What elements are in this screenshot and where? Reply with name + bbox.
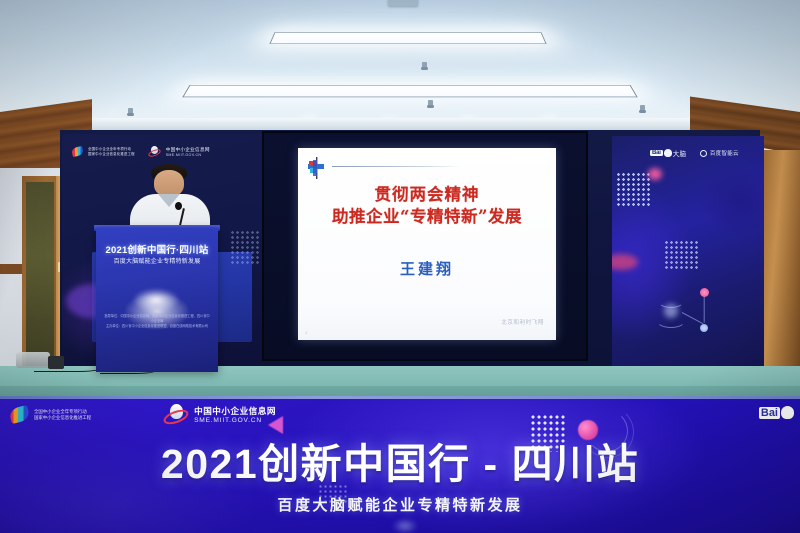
slide-title-line1: 贯彻两会精神 bbox=[298, 184, 556, 206]
podium-subtitle: 百度大脑赋能企业专精特新发展 bbox=[96, 256, 218, 265]
presentation-slide: 贯彻两会精神 助推企业“专精特新”发展 王建翔 北京和利时飞翔 1 bbox=[298, 148, 556, 340]
right-panel-arc-2 bbox=[656, 312, 686, 328]
banner-top-edge bbox=[0, 396, 800, 399]
logo-baidu-cloud: 百度智能云 bbox=[700, 149, 739, 157]
stage-podium: 2021创新中国行·四川站 百度大脑赋能企业专精特新发展 指导单位：中国中小企业… bbox=[96, 228, 218, 372]
logo-sme-miit: 中国中小企业信息网 SME.MIIT.GOV.CN bbox=[148, 146, 210, 157]
sprinkler-icon bbox=[640, 105, 645, 113]
slide-title: 贯彻两会精神 助推企业“专精特新”发展 bbox=[298, 184, 556, 228]
globe-orbit-icon bbox=[148, 146, 161, 157]
sprinkler-icon bbox=[128, 108, 133, 116]
banner-logo-sme-action-line1: 全国中小企业全年专项行动 bbox=[34, 409, 91, 415]
slide-author: 王建翔 bbox=[298, 258, 556, 279]
banner-subtitle: 百度大脑赋能企业专精特新发展 bbox=[0, 494, 800, 515]
rainbow-swoosh-icon bbox=[71, 146, 84, 157]
banner-title-block: 2021创新中国行 - 四川站 百度大脑赋能企业专精特新发展 bbox=[0, 440, 800, 515]
banner-title: 2021创新中国行 - 四川站 bbox=[0, 440, 800, 488]
baidu-paw-icon bbox=[664, 149, 672, 157]
podium-title: 2021创新中国行·四川站 bbox=[96, 242, 218, 256]
banner-bottom-glow bbox=[392, 518, 418, 533]
right-panel-dot-grid-2 bbox=[664, 240, 700, 270]
slide-divider bbox=[332, 166, 462, 167]
node-dot-bottom bbox=[700, 324, 708, 332]
node-dot-top bbox=[700, 288, 709, 297]
podium-fine-print-line2: 主办单位：四川省中小企业信息化推进联盟、百度在线网络技术有限公司 bbox=[104, 324, 210, 329]
ceiling bbox=[0, 0, 800, 132]
banner-logo-sme-miit-line1: 中国中小企业信息网 bbox=[194, 405, 276, 417]
slide-page-number: 1 bbox=[305, 330, 307, 335]
podium-fine-print: 指导单位：中国中小企业信息网、国家中小企业信息化推进工程、四川省中小企业局 主办… bbox=[104, 314, 210, 329]
slide-title-line2: 助推企业“专精特新”发展 bbox=[298, 206, 556, 228]
right-panel-arc-1 bbox=[658, 294, 684, 308]
banner-logo-sme-action-line2: 国家中小企业信息化推进工程 bbox=[34, 415, 91, 421]
podium-spot-glow bbox=[132, 288, 180, 312]
right-panel-pink-blob bbox=[648, 168, 662, 180]
globe-orbit-icon bbox=[163, 404, 189, 425]
banner-logo-sme-miit-line2: SME.MIIT.GOV.CN bbox=[194, 417, 276, 424]
banner-logo-row: 全国中小企业全年专项行动 国家中小企业信息化推进工程 中国中小企业信息网 SME… bbox=[10, 404, 276, 425]
sprinkler-icon bbox=[428, 100, 433, 108]
sprinkler-icon bbox=[422, 62, 427, 70]
banner-baidu-logo: Bai bbox=[759, 406, 794, 419]
rainbow-swoosh-icon bbox=[8, 405, 30, 424]
baidu-paw-icon bbox=[781, 406, 794, 419]
logo-baidu-brain: Bai 大脑 bbox=[650, 148, 686, 158]
baidu-cloud-label: 百度智能云 bbox=[710, 149, 739, 157]
logo-sme-action: 全国中小企业全年专项行动 国家中小企业信息化推进工程 bbox=[72, 147, 135, 156]
right-panel-red-blob bbox=[612, 254, 638, 270]
slide-footer: 北京和利时飞翔 bbox=[501, 318, 544, 326]
right-panel-dot-grid-1 bbox=[616, 172, 650, 206]
banner-logo-sme-miit: 中国中小企业信息网 SME.MIIT.GOV.CN bbox=[163, 404, 276, 425]
baidu-wordmark: Bai bbox=[759, 407, 780, 419]
crosshair-logo-icon bbox=[306, 157, 336, 179]
right-wall-wood-pillar bbox=[764, 150, 800, 380]
conference-stage-photo: 全国中小企业全年专项行动 国家中小企业信息化推进工程 中国中小企业信息网 SME… bbox=[0, 0, 800, 533]
banner-dot-grid-bottom bbox=[318, 484, 348, 504]
panel-dot-grid bbox=[230, 230, 260, 264]
banner-logo-sme-action: 全国中小企业全年专项行动 国家中小企业信息化推进工程 bbox=[10, 407, 91, 422]
logo-sme-action-line1: 全国中小企业全年专项行动 bbox=[88, 147, 135, 152]
speaker-head bbox=[154, 170, 184, 197]
right-led-panel: Bai 大脑 百度智能云 bbox=[612, 136, 764, 368]
microphone-icon bbox=[175, 202, 182, 210]
logo-sme-miit-line2: SME.MIIT.GOV.CN bbox=[166, 153, 210, 157]
node-stem bbox=[703, 297, 704, 323]
ceiling-light-panel-2 bbox=[182, 85, 637, 97]
banner-magenta-circle-icon bbox=[578, 420, 598, 440]
door-opening bbox=[26, 182, 54, 366]
baidu-wordmark: Bai bbox=[650, 150, 663, 156]
podium-fine-print-line1: 指导单位：中国中小企业信息网、国家中小企业信息化推进工程、四川省中小企业局 bbox=[104, 314, 210, 324]
cloud-ring-icon bbox=[700, 150, 707, 157]
logo-sme-miit-line1: 中国中小企业信息网 bbox=[166, 147, 210, 153]
air-vent-icon bbox=[388, 0, 418, 6]
left-panel-logo-row: 全国中小企业全年专项行动 国家中小企业信息化推进工程 中国中小企业信息网 SME… bbox=[72, 146, 210, 157]
ceiling-light-panel-1 bbox=[269, 32, 546, 44]
banner-pink-triangle-icon bbox=[268, 416, 283, 434]
logo-sme-action-line2: 国家中小企业信息化推进工程 bbox=[88, 152, 135, 157]
right-panel-logo-row: Bai 大脑 百度智能云 bbox=[650, 148, 739, 158]
projection-screen: 贯彻两会精神 助推企业“专精特新”发展 王建翔 北京和利时飞翔 1 bbox=[262, 131, 588, 361]
baidu-brain-label: 大脑 bbox=[673, 148, 687, 158]
